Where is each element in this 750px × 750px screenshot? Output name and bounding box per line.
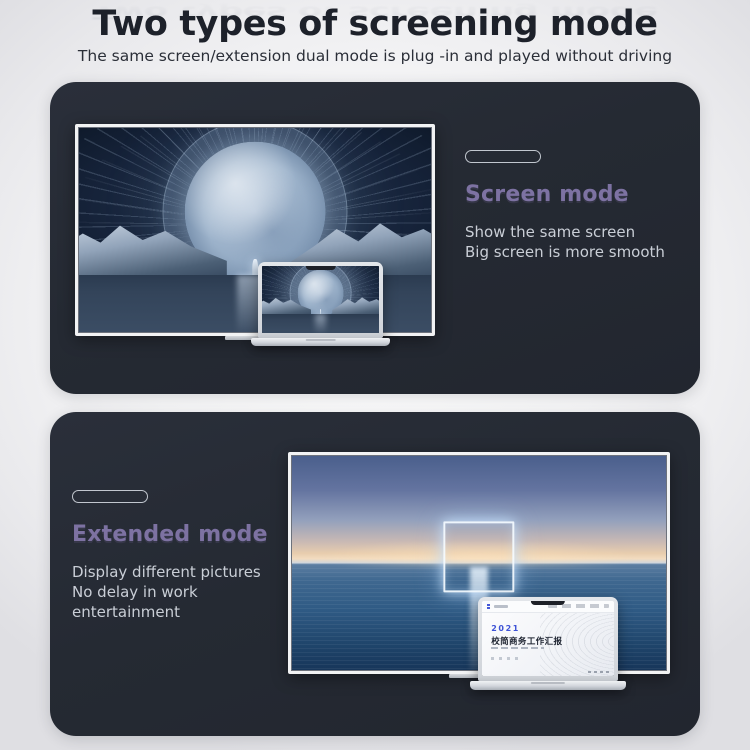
laptop-trackpad-notch-extended <box>531 682 565 684</box>
lake-moon-reflection-laptop <box>315 314 327 333</box>
badge-pill-screen-mode <box>465 150 541 163</box>
page-title: Two types of screening mode <box>0 4 750 44</box>
laptop-camera-notch <box>305 266 335 270</box>
page-subtitle: The same screen/extension dual mode is p… <box>0 47 750 65</box>
laptop-trackpad-notch <box>305 339 336 341</box>
mode-description-extended: Display different pictures No delay in w… <box>72 563 302 623</box>
text-block-extended-mode: Extended mode Display different pictures… <box>72 490 302 623</box>
badge-pill-extended-mode <box>72 490 148 503</box>
laptop-camera-notch-extended <box>531 601 565 605</box>
laptop-extended: 2021 校简商务工作汇报 <box>478 597 618 695</box>
slide-status-marks <box>588 671 609 673</box>
text-block-screen-mode: Screen mode Show the same screen Big scr… <box>465 150 680 263</box>
panel-screen-mode: Screen mode Show the same screen Big scr… <box>50 82 700 394</box>
scene-moon-startrail-laptop <box>262 266 379 333</box>
laptop-base-extended <box>470 681 625 690</box>
laptop-base-mirror <box>251 338 390 346</box>
slide-heading: 校简商务工作汇报 <box>491 635 562 647</box>
panel-extended-mode: Extended mode Display different pictures… <box>50 412 700 736</box>
page-header: Two types of screening mode Two types of… <box>0 0 750 78</box>
mode-description-screen: Show the same screen Big screen is more … <box>465 223 680 263</box>
laptop-lid-extended: 2021 校简商务工作汇报 <box>478 597 618 681</box>
mode-title-screen: Screen mode <box>465 182 680 207</box>
laptop-screen-extended: 2021 校简商务工作汇报 <box>482 601 614 676</box>
slide-app-logo-icon <box>487 604 490 610</box>
slide-app-name <box>494 605 509 608</box>
laptop-mirror <box>258 262 383 352</box>
presentation-slide: 2021 校简商务工作汇报 <box>482 601 614 676</box>
laptop-lid-mirror <box>258 262 383 338</box>
slide-subtitle-lines <box>491 647 544 649</box>
neon-square-frame <box>443 521 514 592</box>
slide-year: 2021 <box>491 624 520 633</box>
slide-footer-marks <box>491 657 520 660</box>
laptop-screen-mirror <box>262 266 379 333</box>
mode-title-extended: Extended mode <box>72 522 302 547</box>
